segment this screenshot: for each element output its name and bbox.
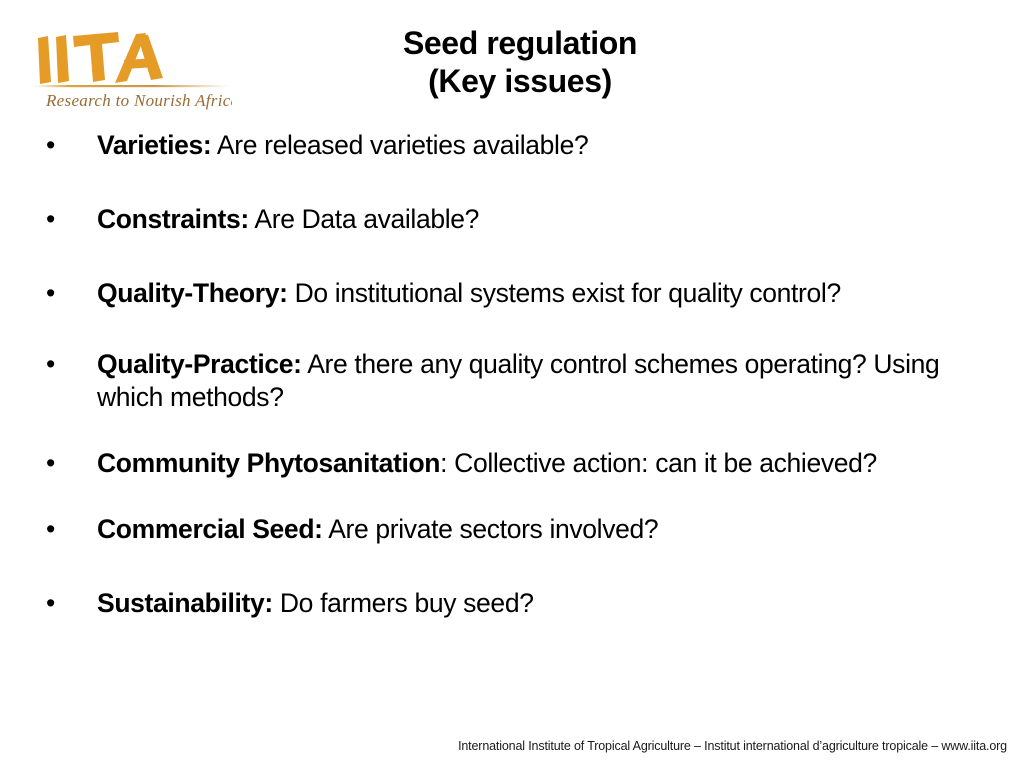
list-item-rest: Do institutional systems exist for quali… <box>288 278 841 308</box>
list-item-lead: Quality-Practice: <box>97 349 302 379</box>
logo-tagline-text: Research to Nourish Africa <box>45 91 232 110</box>
list-item: •Sustainability: Do farmers buy seed? <box>38 587 998 620</box>
iita-logo: Research to Nourish Africa <box>32 30 232 115</box>
list-item: •Quality-Practice: Are there any quality… <box>38 348 998 414</box>
title-line-2: (Key issues) <box>250 62 790 100</box>
list-item-rest: : Collective action: can it be achieved? <box>440 448 877 478</box>
slide-footer: International Institute of Tropical Agri… <box>0 738 1007 754</box>
list-item: •Community Phytosanitation: Collective a… <box>38 447 998 480</box>
list-item-lead: Sustainability: <box>97 588 273 618</box>
list-item-lead: Varieties: <box>97 130 211 160</box>
list-item: •Varieties: Are released varieties avail… <box>38 129 998 162</box>
list-item-lead: Commercial Seed: <box>97 514 323 544</box>
iita-wordmark-shape <box>38 32 163 84</box>
list-item: •Constraints: Are Data available? <box>38 203 998 236</box>
page-title: Seed regulation (Key issues) <box>250 24 790 100</box>
bullet-marker-icon: • <box>46 277 55 310</box>
bullet-marker-icon: • <box>46 513 55 546</box>
list-item-rest: Do farmers buy seed? <box>273 588 534 618</box>
list-item-lead: Quality-Theory: <box>97 278 288 308</box>
key-issues-list: •Varieties: Are released varieties avail… <box>38 129 998 620</box>
list-item-lead: Community Phytosanitation <box>97 448 440 478</box>
list-item: •Quality-Theory: Do institutional system… <box>38 277 998 310</box>
list-item: •Commercial Seed: Are private sectors in… <box>38 513 998 546</box>
logo-divider-rule <box>34 85 229 87</box>
title-line-1: Seed regulation <box>250 24 790 62</box>
iita-logo-graphic: Research to Nourish Africa <box>32 30 232 115</box>
bullet-marker-icon: • <box>46 348 55 381</box>
bullet-marker-icon: • <box>46 129 55 162</box>
bullet-marker-icon: • <box>46 447 55 480</box>
list-item-rest: Are Data available? <box>249 204 479 234</box>
bullet-marker-icon: • <box>46 203 55 236</box>
list-item-rest: Are private sectors involved? <box>323 514 659 544</box>
bullet-marker-icon: • <box>46 587 55 620</box>
slide-canvas: Research to Nourish Africa Seed regulati… <box>0 0 1024 768</box>
list-item-rest: Are released varieties available? <box>211 130 588 160</box>
list-item-lead: Constraints: <box>97 204 249 234</box>
